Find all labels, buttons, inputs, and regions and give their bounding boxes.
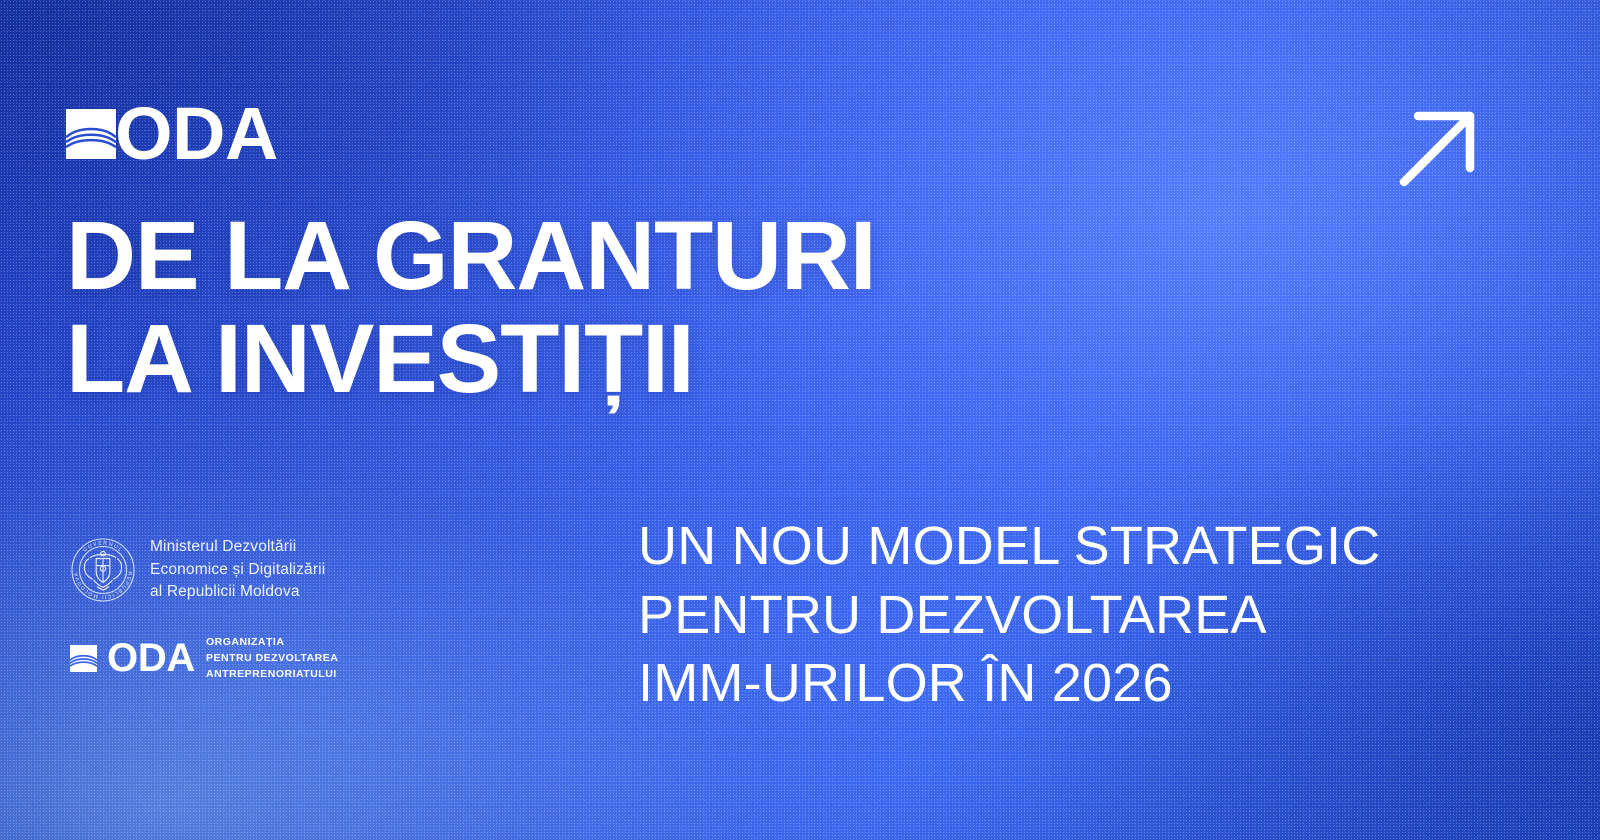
- brand-wordmark: ODA: [115, 101, 278, 166]
- subtitle-line-1: UN NOU MODEL STRATEGIC: [638, 512, 1380, 581]
- subtitle: UN NOU MODEL STRATEGIC PENTRU DEZVOLTARE…: [638, 512, 1380, 718]
- moldova-government-seal-icon: GUVERNUL REPUBLICII MOLDOVA: [70, 537, 136, 603]
- subtitle-line-3: IMM-URILOR ÎN 2026: [638, 649, 1380, 718]
- government-name-line-3: al Republicii Moldova: [150, 581, 325, 604]
- agency-full-name: ORGANIZAȚIA PENTRU DEZVOLTAREA ANTREPREN…: [206, 634, 338, 683]
- promotional-banner: ODA DE LA GRANTURI LA INVESTIȚII UN NOU …: [0, 0, 1600, 840]
- agency-name-line-1: ORGANIZAȚIA: [206, 635, 338, 651]
- government-name-line-2: Economice și Digitalizării: [150, 559, 325, 582]
- headline-line-2: LA INVESTIȚII: [66, 308, 875, 411]
- arrow-up-right-icon[interactable]: [1394, 104, 1482, 192]
- government-name: Ministerul Dezvoltării Economice și Digi…: [150, 536, 325, 604]
- subtitle-line-2: PENTRU DEZVOLTAREA: [638, 581, 1380, 650]
- government-lockup: GUVERNUL REPUBLICII MOLDOVA: [70, 536, 325, 604]
- banner-content: ODA DE LA GRANTURI LA INVESTIȚII UN NOU …: [0, 0, 1600, 840]
- agency-lockup[interactable]: ODA ORGANIZAȚIA PENTRU DEZVOLTAREA ANTRE…: [70, 634, 338, 683]
- oda-wave-mark-icon: [66, 109, 116, 159]
- agency-wordmark: ODA: [107, 640, 195, 676]
- agency-name-line-3: ANTREPRENORIATULUI: [206, 667, 338, 683]
- government-name-line-1: Ministerul Dezvoltării: [150, 536, 325, 559]
- oda-wave-mark-icon-small: [70, 645, 97, 672]
- brand-logo[interactable]: ODA: [66, 101, 278, 166]
- headline-line-1: DE LA GRANTURI: [66, 205, 875, 308]
- agency-name-line-2: PENTRU DEZVOLTAREA: [206, 651, 338, 667]
- headline: DE LA GRANTURI LA INVESTIȚII: [66, 205, 875, 411]
